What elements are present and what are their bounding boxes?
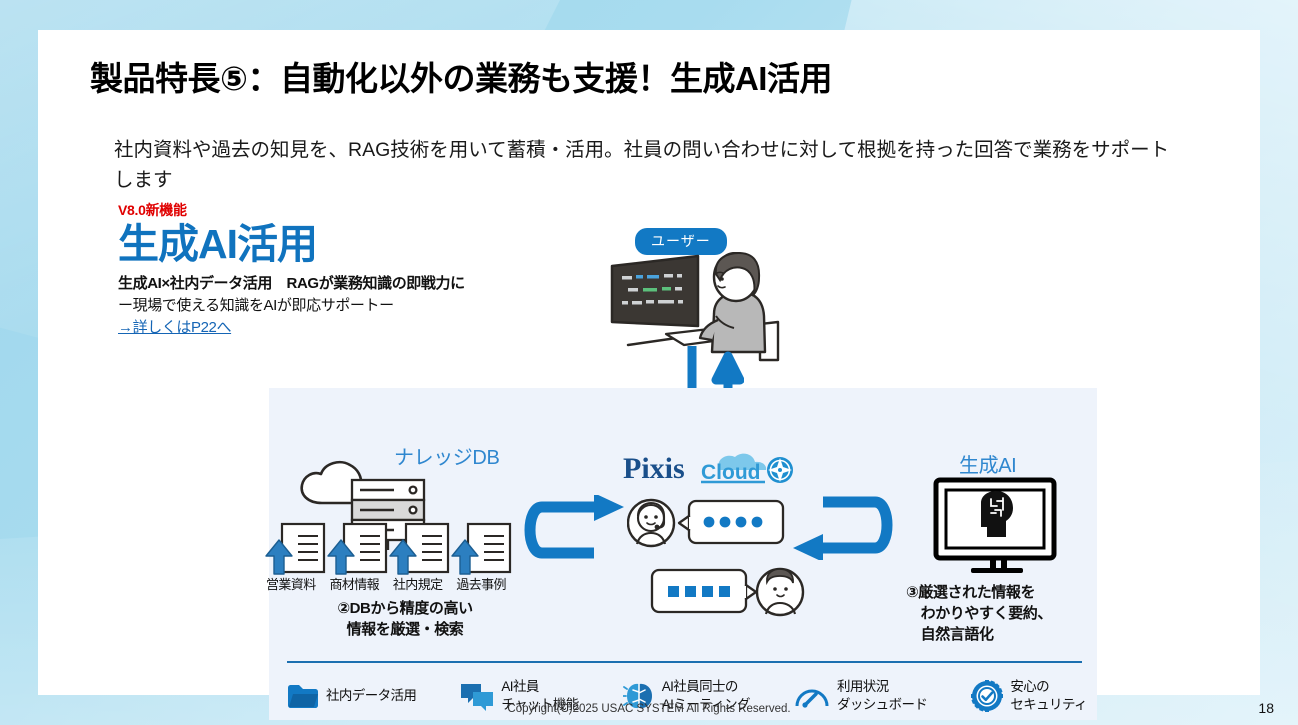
document-labels: 営業資料 商材情報 社内規定 過去事例 xyxy=(266,574,506,593)
svg-text:Cloud: Cloud xyxy=(701,461,760,484)
source-documents-icons xyxy=(262,522,514,580)
pixis-cloud-logo: Pixis Cloud xyxy=(623,451,795,487)
slide-content-panel: 製品特長⑤：自動化以外の業務も支援！生成AI活用 社内資料や過去の知見を、RAG… xyxy=(38,30,1260,695)
feature-subtitle-2: ー現場で使える知識をAIが即応サポートー xyxy=(118,294,548,315)
doc-label-3: 過去事例 xyxy=(456,574,506,593)
page-number: 18 xyxy=(1258,700,1274,716)
new-version-tag: V8.0新機能 xyxy=(118,200,548,220)
generative-ai-title: 生成AI xyxy=(959,449,1016,478)
step-2-label: ②DBから精度の高い 情報を厳選・検索 xyxy=(300,598,510,640)
doc-label-1: 商材情報 xyxy=(329,574,379,593)
doc-label-0: 営業資料 xyxy=(266,574,316,593)
flow-arrow-left-loop xyxy=(522,495,632,561)
user-chat-row xyxy=(650,565,806,619)
svg-text:Pixis: Pixis xyxy=(623,452,685,485)
feature-title: 生成AI活用 xyxy=(118,219,548,269)
page-title: 製品特長⑤：自動化以外の業務も支援！生成AI活用 xyxy=(90,52,832,100)
flow-arrow-right-loop xyxy=(785,492,895,560)
copyright-footer: Copyright(C)2025 USAC SYSTEM All Rights … xyxy=(0,703,1298,715)
feature-highlight-block: V8.0新機能 生成AI活用 生成AI×社内データ活用 RAGが業務知識の即戦力… xyxy=(118,200,548,337)
feature-bar-divider xyxy=(287,661,1082,663)
doc-label-2: 社内規定 xyxy=(393,574,443,593)
user-badge: ユーザー xyxy=(635,228,727,255)
step-3-label: ③厳選された情報を わかりやすく要約、 自然言語化 xyxy=(906,582,1076,645)
ai-agent-chat-row xyxy=(627,496,787,550)
generative-ai-monitor-icon xyxy=(933,477,1063,573)
detail-page-link[interactable]: →詳しくはP22へ xyxy=(118,316,231,337)
lead-paragraph: 社内資料や過去の知見を、RAG技術を用いて蓄積・活用。社員の問い合わせに対して根… xyxy=(114,135,1184,195)
feature-subtitle-1: 生成AI×社内データ活用 RAGが業務知識の即戦力に xyxy=(118,272,548,293)
